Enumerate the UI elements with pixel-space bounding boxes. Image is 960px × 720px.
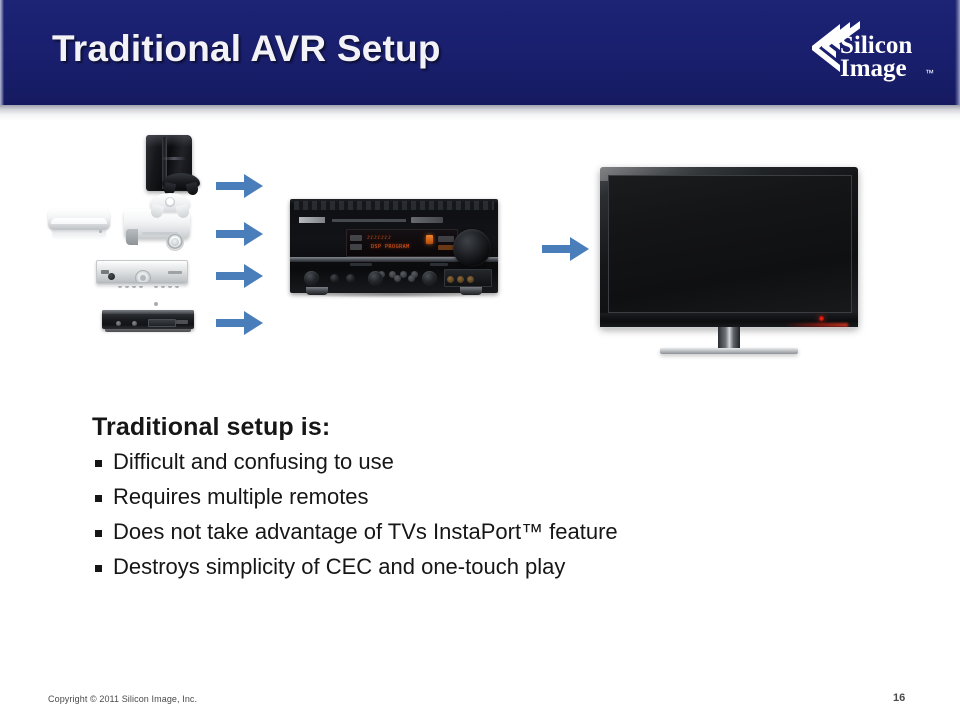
bullet-square-icon [95,495,102,502]
xbox-power-ring [166,233,184,251]
body-content: Traditional setup is: Difficult and conf… [92,413,812,591]
bluray-display [176,320,188,324]
bullet-square-icon [95,565,102,572]
bullet-square-icon [95,530,102,537]
tv-screen [608,175,852,313]
page-title: Traditional AVR Setup [52,28,441,70]
silicon-image-logo: Silicon Image ™ [806,20,942,88]
blu-ray-player [102,304,200,338]
avr-input-knob [304,271,319,286]
tv-stand-neck [718,327,740,349]
apple-tv-reflection [52,230,106,240]
arrow-source-to-avr-3 [216,263,264,294]
list-item-label: Difficult and confusing to use [113,449,394,474]
slide: Traditional AVR Setup Silicon Image ™ [0,0,960,720]
header-right-edge [955,0,960,105]
apple-tv-box [48,201,114,243]
arrow-source-to-avr-4 [216,310,264,341]
list-item: Does not take advantage of TVs InstaPort… [92,521,812,543]
ps3-controller [162,173,200,190]
playstation-3-console [132,135,212,197]
apple-tv-chassis [48,209,110,230]
tv-bezel [600,167,858,327]
page-number: 16 [893,692,905,704]
bluray-disc-tray [148,319,176,327]
avr-display: ♪♪♪♪♪♪♪ DSP PROGRAM [346,229,458,257]
av-receiver: ♪♪♪♪♪♪♪ DSP PROGRAM [290,199,500,299]
bullet-list: Difficult and confusing to use Requires … [92,451,812,578]
tv-stand-base [660,348,798,354]
list-item-label: Does not take advantage of TVs InstaPort… [113,519,618,544]
copyright-notice: Copyright © 2011 Silicon Image, Inc. [48,694,197,704]
flat-panel-tv [600,167,858,357]
list-item-label: Requires multiple remotes [113,484,369,509]
arrow-source-to-avr-1 [216,173,264,204]
list-item: Difficult and confusing to use [92,451,812,473]
tv-power-led [819,316,824,321]
list-item-label: Destroys simplicity of CEC and one-touch… [113,554,565,579]
xbox-controller [150,193,190,212]
avr-brand-mark [299,217,325,223]
avr-program-knob [422,271,437,286]
avr-selector-knob [368,271,383,286]
header-left-edge [0,0,4,105]
body-heading: Traditional setup is: [92,413,812,442]
arrow-source-to-avr-2 [216,221,264,252]
stb-power-button [108,273,115,280]
avr-aux-panel [444,269,492,287]
logo-trademark: ™ [925,68,934,78]
xbox-360-console [124,193,194,245]
avr-volume-knob [453,229,491,267]
list-item: Requires multiple remotes [92,486,812,508]
avr-setup-diagram: ♪♪♪♪♪♪♪ DSP PROGRAM [0,121,960,381]
stb-chassis [96,260,188,284]
logo-line2: Image [840,55,907,82]
header-drop-shadow [0,105,960,121]
satellite-receiver [96,254,192,290]
arrow-avr-to-tv [542,236,590,267]
avr-chassis: ♪♪♪♪♪♪♪ DSP PROGRAM [290,199,498,293]
list-item: Destroys simplicity of CEC and one-touch… [92,556,812,578]
bullet-square-icon [95,460,102,467]
bluray-chassis [102,310,194,329]
